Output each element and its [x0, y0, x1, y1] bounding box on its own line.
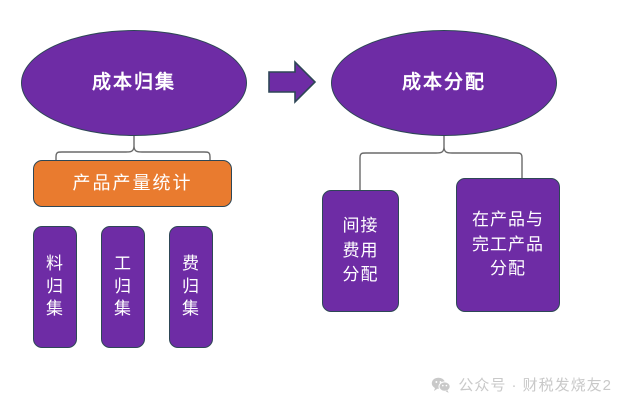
connector-left-brace	[56, 136, 210, 160]
wechat-icon	[431, 377, 451, 393]
node-wip-finished-goods-allocation[interactable]: 在产品与 完工产品 分配	[456, 178, 560, 312]
watermark: 公众号 · 财税发烧友2	[431, 374, 612, 395]
right-arrow-icon	[269, 62, 315, 102]
node-cost-allocation[interactable]: 成本分配	[331, 30, 557, 136]
node-indirect-expense-allocation[interactable]: 间接 费用 分配	[322, 190, 399, 312]
node-cost-collection[interactable]: 成本归集	[21, 30, 247, 136]
node-product-output-statistics[interactable]: 产品产量统计	[33, 160, 232, 207]
node-expense-collection[interactable]: 费 归 集	[169, 226, 213, 348]
watermark-text: 公众号 · 财税发烧友2	[458, 374, 612, 395]
node-material-collection[interactable]: 料 归 集	[33, 226, 77, 348]
node-labor-collection[interactable]: 工 归 集	[101, 226, 145, 348]
